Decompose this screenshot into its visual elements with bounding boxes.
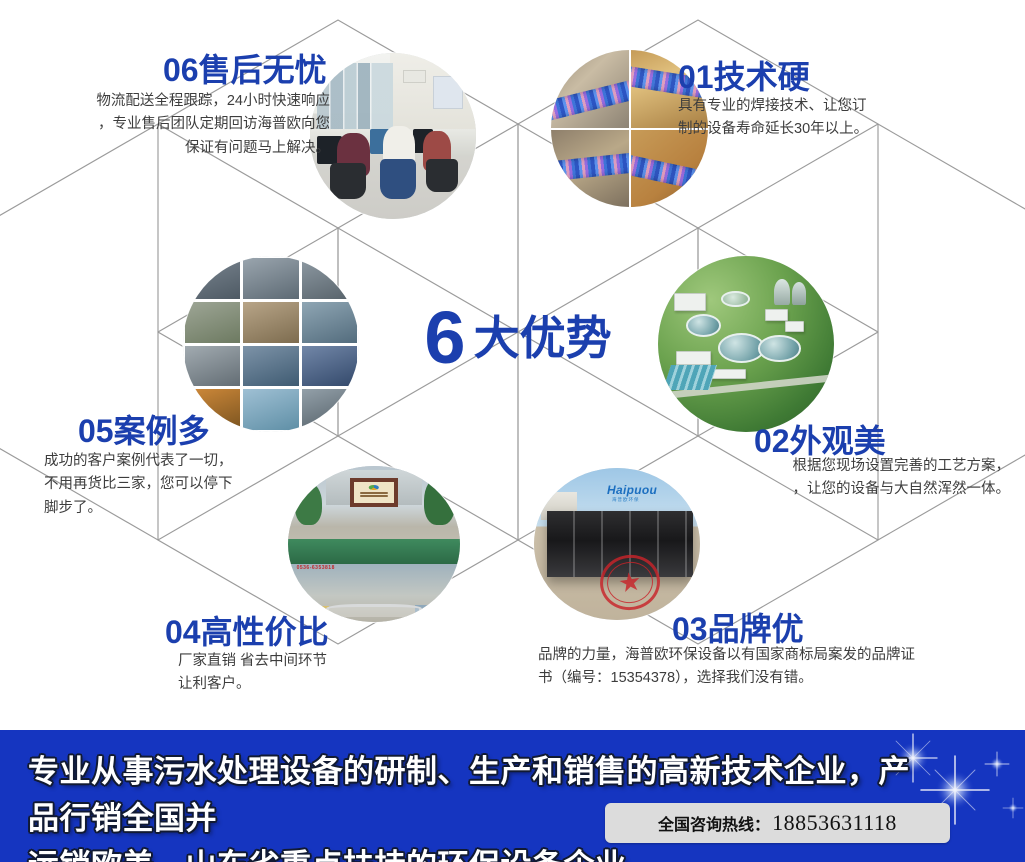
case-thumb <box>185 302 240 343</box>
advantage-desc-02: 根据您现场设置完善的工艺方案， ，让您的设备与大自然浑然一体。 <box>648 455 1010 502</box>
case-thumb <box>185 346 240 387</box>
advantage-title-05: 05案例多 <box>78 406 210 452</box>
gate-phone-text: 0536-6353818 <box>297 565 335 571</box>
case-thumb <box>302 302 357 343</box>
hotline-number: 18853631118 <box>772 810 897 836</box>
case-thumb <box>302 346 357 387</box>
office-team-photo <box>310 53 476 219</box>
case-thumb <box>302 389 357 430</box>
advantage-title-04: 04高性价比 <box>165 607 329 653</box>
center-text: 大优势 <box>474 315 612 361</box>
advantage-title-01: 01技术硬 <box>678 52 810 98</box>
infographic-root: 06售后无忧 物流配送全程跟踪，24小时快速响应 ，专业售后团队定期回访海普欧向… <box>0 0 1025 862</box>
haipuou-logo: Haipuou <box>607 483 657 497</box>
advantage-title-06: 06售后无忧 <box>163 45 327 91</box>
center-label: 6 大优势 <box>398 292 638 384</box>
case-thumb <box>243 302 298 343</box>
case-thumb <box>185 258 240 299</box>
aerial-treatment-plant-photo <box>658 256 834 432</box>
equipment-with-trademark-stamp-photo: Haipuou 海普欧环保 ★ <box>534 468 700 620</box>
weld-quadrant-1 <box>551 50 629 128</box>
banner-line-2: 远销欧美，山东省重点扶持的环保设备企业。 <box>28 842 928 862</box>
advantage-desc-06: 物流配送全程跟踪，24小时快速响应 ，专业售后团队定期回访海普欧向您 保证有问题… <box>20 90 330 160</box>
weld-quadrant-3 <box>551 130 629 208</box>
advantage-desc-01: 具有专业的焊接技术、让您订 制的设备寿命延长30年以上。 <box>678 95 1008 142</box>
case-thumb <box>302 258 357 299</box>
advantage-desc-04: 厂家直销 省去中间环节 让利客户。 <box>178 650 478 697</box>
haipuou-logo-sub: 海普欧环保 <box>612 497 640 503</box>
hotline-label: 全国咨询热线： <box>658 811 770 835</box>
center-number: 6 <box>424 301 463 375</box>
advantage-desc-05: 成功的客户案例代表了一切， 不用再货比三家，您可以停下 脚步了。 <box>44 450 344 520</box>
hotline-box[interactable]: 全国咨询热线： 18853631118 <box>605 803 950 843</box>
case-thumb <box>243 346 298 387</box>
case-collage-grid <box>185 258 357 430</box>
advantage-desc-03: 品牌的力量，海普欧环保设备以有国家商标局案发的品牌证 书（编号：15354378… <box>538 644 1018 691</box>
case-thumb <box>243 258 298 299</box>
case-thumb <box>243 389 298 430</box>
